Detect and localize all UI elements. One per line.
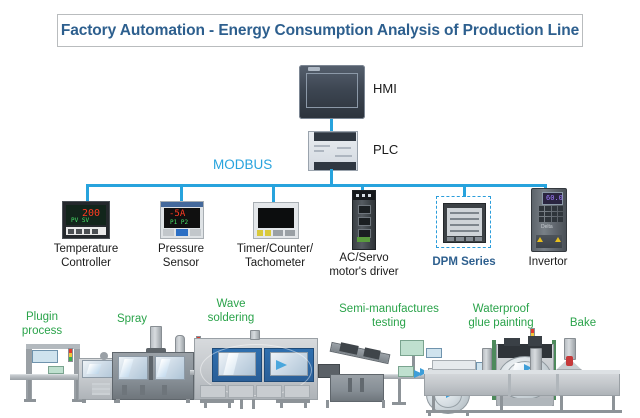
conveyor-foot <box>392 402 406 405</box>
bake-indicator-lamp <box>566 356 573 366</box>
testing-incline-conveyor <box>330 342 391 364</box>
spray-vent-grille <box>92 383 110 395</box>
plc-stripe <box>314 145 330 147</box>
plugin-control-panel <box>32 350 58 363</box>
stage-label-semi-manufactures-testing: Semi-manufactures testing <box>330 303 448 330</box>
bus-drop-temperature-controller <box>86 184 89 202</box>
warning-triangle-icon <box>555 237 561 242</box>
temperature-controller-screen: 200 PV SV <box>66 205 106 225</box>
flow-direction-arrow <box>276 360 287 370</box>
reflow-cabinet-door <box>284 385 310 398</box>
spray-nozzle <box>100 352 108 360</box>
hmi-device <box>299 65 365 119</box>
bake-oven-divider <box>508 374 511 396</box>
invertor-label: Invertor <box>518 256 578 270</box>
bus-drop-pressure-sensor <box>180 184 183 202</box>
testing-foot <box>382 400 385 408</box>
glue-machine-hood <box>432 360 476 370</box>
bus-drop-timer-counter <box>272 184 275 203</box>
invertor-display-value: 60.0 <box>546 194 563 202</box>
testing-terminal-box <box>426 348 442 358</box>
testing-monitor-screen <box>400 340 424 356</box>
plc-stripe <box>337 147 351 149</box>
pressure-secondary-value: P1 P2 <box>170 220 188 226</box>
spray-foot <box>82 399 86 403</box>
reflow-foot <box>228 402 231 408</box>
plc-label: PLC <box>373 143 413 157</box>
reflow-center-leg <box>252 399 255 409</box>
ac-servo-led <box>362 194 365 197</box>
wave-door-handle <box>122 385 127 395</box>
ac-servo-led <box>356 194 359 197</box>
testing-cabinet-handle <box>360 378 364 392</box>
conveyor-foot <box>24 399 36 402</box>
pressure-sensor-header <box>161 202 203 207</box>
plugin-signal-tower <box>68 348 73 362</box>
hmi-screen <box>306 73 358 108</box>
bake-oven-top <box>424 370 620 374</box>
pressure-sensor-label: Pressure Sensor <box>144 243 218 270</box>
ac-servo-terminal-block <box>357 237 370 242</box>
reflow-center-leg <box>240 399 243 409</box>
temperature-controller-buttons <box>66 227 106 235</box>
ac-servo-slot <box>358 217 371 226</box>
plc-bottom-terminal <box>314 162 356 170</box>
pressure-sensor-buttons <box>163 229 201 236</box>
dpm-screen-row <box>450 224 479 226</box>
dpm-screen-row <box>450 218 479 220</box>
pressure-primary-value: -5A <box>169 210 185 219</box>
dpm-series-screen <box>447 208 482 236</box>
stage-label-waterproof-glue-painting: Waterproof glue painting <box>455 303 547 330</box>
bake-base-rail <box>426 410 622 413</box>
wave-door-handle <box>140 385 145 395</box>
warning-triangle-icon <box>537 237 543 242</box>
reflow-foot <box>280 402 283 408</box>
timer-counter-label: Timer/Counter/ Tachometer <box>232 243 318 270</box>
testing-foot <box>326 400 329 408</box>
plugin-hmi-screen <box>48 366 64 374</box>
conveyor-leg <box>398 379 401 403</box>
conveyor-leg <box>28 380 31 400</box>
ac-servo-slot <box>358 205 371 214</box>
modbus-bus-line <box>86 184 547 187</box>
ac-servo-top-connector <box>353 191 375 200</box>
wave-door-handle <box>162 385 167 395</box>
wave-soldering-exhaust <box>175 335 185 353</box>
timer-counter-device <box>253 202 299 239</box>
testing-cabinet-handle <box>348 378 352 392</box>
timer-counter-screen <box>258 208 294 228</box>
ac-servo-led <box>368 194 371 197</box>
dpm-screen-row <box>450 212 479 214</box>
diagram-canvas: Factory Automation - Energy Consumption … <box>0 0 640 418</box>
invertor-keypad <box>539 206 563 222</box>
plc-top-terminal <box>314 132 356 141</box>
autoclave-device-box <box>528 336 542 346</box>
dpm-screen-row <box>450 230 479 232</box>
dpm-series-label: DPM Series <box>432 256 496 270</box>
wave-soldering-chimney <box>150 326 162 350</box>
temperature-secondary-value: PV SV <box>71 218 89 224</box>
page-title-box: Factory Automation - Energy Consumption … <box>57 14 583 47</box>
page-title: Factory Automation - Energy Consumption … <box>61 22 579 40</box>
pressure-sensor-device: -5A P1 P2 <box>160 201 204 239</box>
plc-device <box>308 131 358 171</box>
stage-label-bake: Bake <box>561 317 605 331</box>
stage-label-spray: Spray <box>107 313 157 327</box>
bus-plc-trunk <box>330 169 333 185</box>
temperature-controller-device: 200 PV SV <box>62 201 110 239</box>
invertor-screen: 60.0 <box>542 192 563 205</box>
modbus-label: MODBUS <box>213 157 272 172</box>
dpm-series-buttons <box>447 237 482 241</box>
reflow-cabinet-door <box>200 385 226 398</box>
wave-soldering-divider <box>149 356 153 380</box>
reflow-cabinet-door <box>228 385 254 398</box>
hmi-label: HMI <box>373 82 413 96</box>
reflow-foot <box>204 402 207 408</box>
stage-label-wave-soldering: Wave soldering <box>191 298 271 325</box>
ac-servo-driver-device <box>352 190 376 250</box>
wave-foot <box>186 399 190 403</box>
invertor-brand-mark: Delta <box>541 224 553 230</box>
pressure-sensor-screen: -5A P1 P2 <box>164 208 200 228</box>
reflow-cabinet-door <box>256 385 282 398</box>
flow-direction-arrow <box>414 370 423 378</box>
reflow-foot <box>304 402 307 408</box>
invertor-device: 60.0 Delta <box>531 188 567 252</box>
timer-counter-buttons <box>257 230 295 236</box>
wave-foot <box>116 399 120 403</box>
glue-panel-screen <box>398 366 414 377</box>
ac-servo-driver-label: AC/Servo motor's driver <box>326 252 402 279</box>
reflow-exhaust <box>250 330 260 340</box>
autoclave-device-box <box>504 338 520 346</box>
testing-cabinet <box>330 374 384 402</box>
production-line-illustration <box>0 330 640 418</box>
dpm-series-device <box>443 203 486 243</box>
temperature-controller-label: Temperature Controller <box>48 243 124 270</box>
plc-stripe <box>314 150 324 152</box>
bake-oven-divider <box>556 374 559 396</box>
plc-stripe <box>335 155 352 157</box>
autoclave-base <box>498 398 552 406</box>
hmi-brand-mark <box>308 67 320 71</box>
